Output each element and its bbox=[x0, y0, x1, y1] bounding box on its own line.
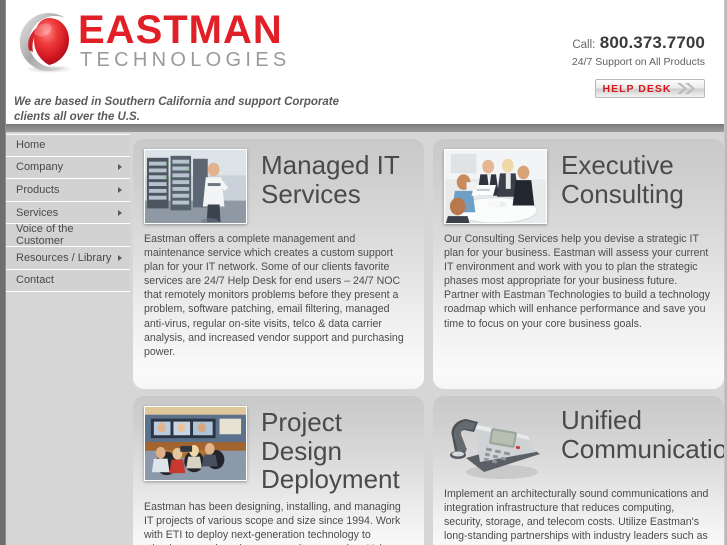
logo-wordmark-primary: EASTMAN bbox=[78, 9, 291, 51]
card-unified-communications[interactable]: Unified Communications Implement an arch… bbox=[433, 396, 724, 545]
card-body-text: Eastman has been designing, installing, … bbox=[133, 494, 424, 545]
double-chevron-right-icon bbox=[675, 82, 697, 95]
header-divider bbox=[6, 124, 727, 132]
triangle-right-icon bbox=[118, 187, 122, 193]
voip-desk-phone-photo bbox=[444, 406, 547, 481]
triangle-right-icon bbox=[118, 164, 122, 170]
card-header: Executive Consulting bbox=[433, 139, 724, 224]
logo[interactable]: EASTMAN TECHNOLOGIES bbox=[12, 6, 302, 81]
card-title-line-2: Services bbox=[261, 180, 400, 209]
sidebar-item-label: Resources / Library bbox=[16, 252, 111, 264]
page-root: EASTMAN TECHNOLOGIES We are based in Sou… bbox=[0, 0, 727, 545]
site-header: EASTMAN TECHNOLOGIES We are based in Sou… bbox=[6, 0, 727, 124]
card-executive-consulting[interactable]: Executive Consulting Our Consulting Serv… bbox=[433, 139, 724, 389]
card-body-text: Implement an architecturally sound commu… bbox=[433, 481, 724, 545]
sidebar-item-services[interactable]: Services bbox=[6, 202, 130, 225]
card-title-line-1: Unified bbox=[561, 406, 724, 435]
video-conference-room-photo bbox=[144, 406, 247, 481]
card-header: Unified Communications bbox=[433, 396, 724, 481]
sidebar-nav: Home Company Products Services Voice of … bbox=[6, 134, 130, 292]
page-left-edge bbox=[0, 0, 6, 545]
card-title-line-2: Consulting bbox=[561, 180, 684, 209]
sidebar-item-label: Home bbox=[16, 139, 45, 151]
card-body-text: Eastman offers a complete management and… bbox=[133, 224, 424, 359]
card-managed-it-services[interactable]: Managed IT Services Eastman offers a com… bbox=[133, 139, 424, 389]
call-label: Call: bbox=[572, 39, 595, 51]
sidebar-item-label: Company bbox=[16, 161, 63, 173]
logo-wordmark-secondary: TECHNOLOGIES bbox=[80, 49, 291, 71]
sidebar-item-contact[interactable]: Contact bbox=[6, 270, 130, 293]
sidebar-item-label: Voice of the Customer bbox=[16, 223, 116, 247]
card-title-line-1: Managed IT bbox=[261, 151, 400, 180]
sidebar-item-home[interactable]: Home bbox=[6, 134, 130, 157]
card-title-line-2: Communications bbox=[561, 435, 724, 464]
sidebar-item-products[interactable]: Products bbox=[6, 179, 130, 202]
sidebar-item-company[interactable]: Company bbox=[6, 157, 130, 180]
sidebar-item-resources-library[interactable]: Resources / Library bbox=[6, 247, 130, 270]
card-title: Unified Communications bbox=[547, 406, 724, 481]
card-project-design-deployment[interactable]: Project Design Deployment Eastman has be… bbox=[133, 396, 424, 545]
triangle-right-icon bbox=[118, 210, 122, 216]
phone-number[interactable]: 800.373.7700 bbox=[600, 33, 705, 52]
card-title: Project Design Deployment bbox=[247, 406, 400, 494]
sidebar-item-label: Services bbox=[16, 207, 58, 219]
help-desk-label: HELP DESK bbox=[603, 83, 672, 95]
sidebar-item-voice-of-the-customer[interactable]: Voice of the Customer bbox=[6, 224, 130, 247]
contact-block: Call: 800.373.7700 24/7 Support on All P… bbox=[572, 33, 705, 68]
sidebar-item-label: Contact bbox=[16, 274, 54, 286]
support-note: 24/7 Support on All Products bbox=[572, 56, 705, 68]
header-tagline: We are based in Southern California and … bbox=[14, 95, 364, 125]
red-sphere-logo-icon bbox=[16, 10, 82, 76]
card-title: Executive Consulting bbox=[547, 149, 684, 224]
server-room-technician-photo bbox=[144, 149, 247, 224]
business-meeting-photo bbox=[444, 149, 547, 224]
sidebar-item-label: Products bbox=[16, 184, 59, 196]
card-title-line-2: Design bbox=[261, 437, 400, 466]
triangle-right-icon bbox=[118, 255, 122, 261]
card-title-line-1: Executive bbox=[561, 151, 684, 180]
card-header: Managed IT Services bbox=[133, 139, 424, 224]
card-title-line-3: Deployment bbox=[261, 465, 400, 494]
card-header: Project Design Deployment bbox=[133, 396, 424, 494]
help-desk-button[interactable]: HELP DESK bbox=[595, 79, 705, 98]
card-body-text: Our Consulting Services help you devise … bbox=[433, 224, 724, 331]
card-title-line-1: Project bbox=[261, 408, 400, 437]
card-title: Managed IT Services bbox=[247, 149, 400, 224]
